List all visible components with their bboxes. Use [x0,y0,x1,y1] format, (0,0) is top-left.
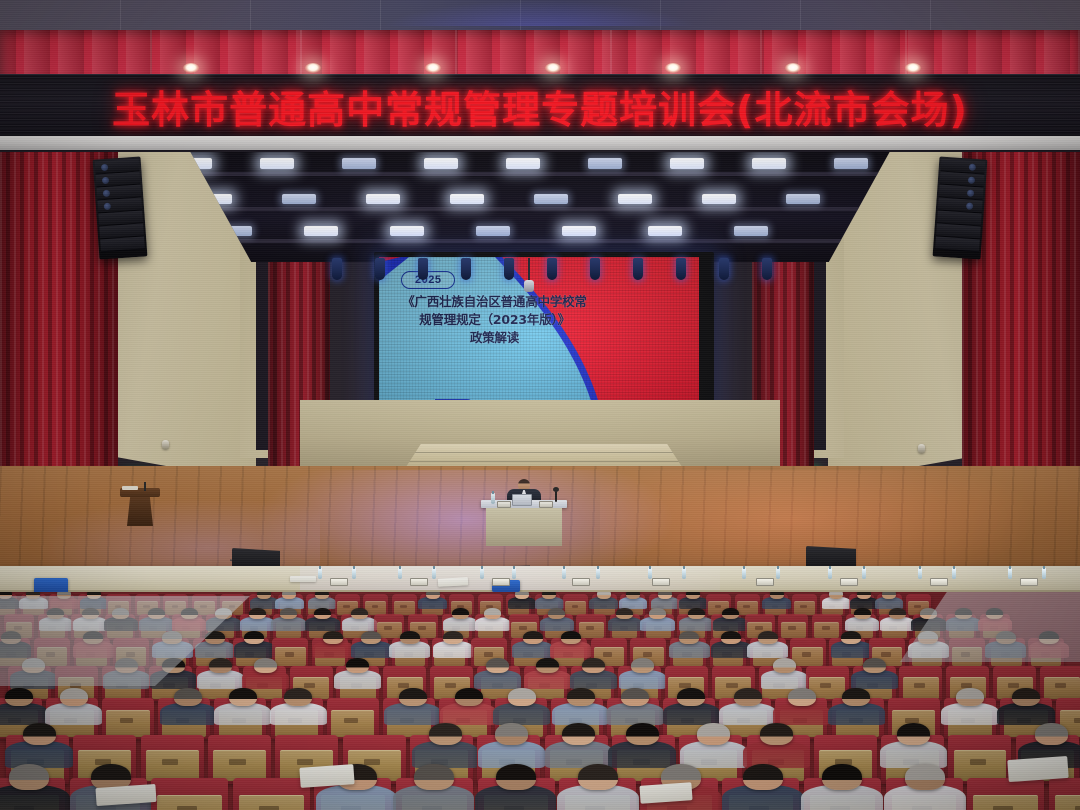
lighting-truss [160,152,920,262]
slide-year-badge: 2025 [401,271,455,289]
audience-member-head [758,631,778,644]
audience-member-head [857,592,871,599]
ceiling-downlight [905,63,921,73]
water-bottle [432,568,436,579]
audience-member-head [829,592,843,599]
audience-member-head [351,608,368,619]
stage-par-light [366,194,400,204]
seat [899,666,942,701]
stage-par-light [260,158,294,169]
water-bottle [512,568,516,579]
audience-member-head [429,723,462,745]
note-paper [639,782,692,804]
water-bottle [1008,568,1012,579]
ceiling-downlight [545,63,561,73]
audience-member-head [9,764,49,790]
audience-member-head [688,608,705,619]
blue-wash-fixture [418,258,428,280]
audience-member-head [60,688,88,706]
audience-member-head [863,658,886,673]
stage-par-light [562,226,596,236]
blue-wash-fixture [547,258,557,280]
seat [327,698,379,739]
name-plate [497,501,511,508]
paper-sheet [438,577,468,587]
audience-member-head [567,688,595,706]
hanging-mic-cable [528,258,530,282]
ceiling-tile-line [930,0,931,32]
audience-member-head [616,608,633,619]
stage-par-light [752,158,786,169]
audience-member-head [257,592,271,599]
seat [812,614,842,640]
seat [576,614,606,640]
audience-member-head [484,608,501,619]
wall-knob-right [918,444,925,453]
stage-par-light [342,158,376,169]
water-bottle [352,568,356,579]
stage-par-light [304,226,338,236]
blue-wash-fixture [633,258,643,280]
blue-wash-fixture [461,258,471,280]
stage-par-light [390,226,424,236]
audience-member-head [905,764,945,790]
blue-wash-fixture [719,258,729,280]
audience-member-head [626,592,640,599]
audience-member-head [679,631,699,644]
auditorium-photo: 玉林市普通高中常规管理专题培训会(北流市会场) [0,0,1080,810]
audience-member-head [361,631,381,644]
audience-member-head [597,592,611,599]
ceiling-downlight [785,63,801,73]
water-bottle [918,568,922,579]
stage-par-light [648,226,682,236]
audience-member-head [548,608,565,619]
name-plate [539,501,553,508]
audience-member-head [542,592,556,599]
name-plate [410,578,428,586]
blue-wash-fixture [762,258,772,280]
audience-member-head [897,723,930,745]
water-bottle [596,568,600,579]
seat [563,594,588,616]
name-plate [572,578,590,586]
name-plate [756,578,774,586]
audience-member-head [414,764,454,790]
audience-member-head [496,764,536,790]
seat [792,594,817,616]
name-plate [840,578,858,586]
audience-member-head [882,592,896,599]
audience-member-head [1035,723,1068,745]
stage-par-light [834,158,868,169]
audience-member-head [734,688,762,706]
audience-member-head [1012,688,1040,706]
seat [102,698,154,739]
laptop [511,494,531,506]
water-bottle [1042,568,1046,579]
water-bottle [952,568,956,579]
audience-member-head [5,688,33,706]
line-array-speaker-left [93,156,148,259]
stage-par-light [450,194,484,204]
audience-member-head [561,631,581,644]
stage-par-light [424,158,458,169]
audience-member-head [841,631,861,644]
audience-member-head [626,723,659,745]
audience-member-head [244,631,264,644]
stage-par-light [506,158,540,169]
audience-member-head [578,764,618,790]
line-array-speaker-right [933,156,988,259]
audience-member-head [399,688,427,706]
audience-member-head [508,688,536,706]
water-bottle [398,568,402,579]
hanging-microphone [524,280,534,292]
name-plate [1020,578,1038,586]
stage-par-light [534,194,568,204]
audience-member-head [721,631,741,644]
audience-member-head [697,723,730,745]
stage-par-light [734,226,768,236]
blue-wash-fixture [590,258,600,280]
water-bottle [742,568,746,579]
note-paper [1007,756,1068,782]
audience-member-head [314,608,331,619]
audience-member-head [495,723,528,745]
side-podium [120,480,160,526]
audience-member-head [889,608,906,619]
seat [1040,666,1080,701]
table-microphone [555,490,557,502]
name-plate [930,578,948,586]
water-bottle [682,568,686,579]
name-plate [492,578,510,586]
audience-member-head [209,658,232,673]
audience-member-head [854,608,871,619]
ceiling-downlight [305,63,321,73]
seat [151,778,228,810]
stage-par-light [476,226,510,236]
slide-title-line-1: 《广西壮族自治区普通高中学校常 [387,293,602,311]
audience-member-head [677,688,705,706]
audience-member-head [515,592,529,599]
audience-member-head [346,658,369,673]
water-bottle [828,568,832,579]
ceiling-tile-line [120,0,121,32]
audience-member-head [23,723,56,745]
seat [778,614,808,640]
slide-title-line-2: 规管理规定（2023年版）》 [387,311,602,329]
water-bottle [480,568,484,579]
audience-member-head [315,592,329,599]
audience-member-head [254,658,277,673]
truss-bar [190,207,890,211]
audience-member-head [956,688,984,706]
ceiling-downlight [183,63,199,73]
audience-member-head [486,658,509,673]
audience-member-head [743,764,783,790]
blue-wash-fixture [375,258,385,280]
ceiling-tile-line [800,0,801,32]
audience-member-head [400,631,420,644]
stage-par-light [588,158,622,169]
water-bottle [776,568,780,579]
note-paper [299,764,354,788]
wall-knob-left [162,440,169,449]
audience-member-head [842,688,870,706]
seat [208,735,271,784]
audience-member-head [770,592,784,599]
audience-member-head [282,592,296,599]
truss-bar [210,239,870,243]
audience-member-head [686,592,700,599]
water-bottle [318,568,322,579]
audience-member-head [621,688,649,706]
water-bottle [562,568,566,579]
audience-member-head [455,688,483,706]
audience-member-head [174,688,202,706]
blue-wash-fixture [332,258,342,280]
speaker-table [481,500,567,546]
ceiling-downlight [665,63,681,73]
audience-member-head [773,658,796,673]
seat [233,778,310,810]
slide-title: 《广西壮族自治区普通高中学校常 规管理规定（2023年版）》 政策解读 [387,293,602,347]
seat [948,735,1011,784]
truss-bar [170,172,910,176]
water-bottle [491,493,495,504]
seat [392,594,417,616]
audience-member-head [658,592,672,599]
audience-member-head [523,631,543,644]
seat [272,638,308,668]
slide-title-line-3: 政策解读 [387,329,602,347]
seat [1049,778,1080,810]
audience-member-head [426,592,440,599]
seat [141,735,204,784]
ceiling-downlight [425,63,441,73]
audience-member-head [536,658,559,673]
audience-member-head [788,688,816,706]
audience-member-head [443,631,463,644]
audience-member-head [760,723,793,745]
audience-member-head [452,608,469,619]
audience-member-head [562,723,595,745]
audience-member-head [631,658,654,673]
paper-sheet [290,576,316,582]
ceiling-glow [380,0,700,26]
blue-wash-fixture [676,258,686,280]
audience-member-head [582,658,605,673]
ceiling-tile-line [250,0,251,32]
audience-member-head [323,631,343,644]
banner-text: 玉林市普通高中常规管理专题培训会(北流市会场) [112,79,968,134]
stage-par-light [670,158,704,169]
stage-par-light [618,194,652,204]
stage-par-light [282,194,316,204]
water-bottle [862,568,866,579]
audience-member-head [284,688,312,706]
seat [967,778,1044,810]
stage-par-light [786,194,820,204]
audience-member-head [249,608,266,619]
audience-member-head [280,608,297,619]
blue-wash-fixture [504,258,514,280]
audience-member-head [229,688,257,706]
stage-par-light [702,194,736,204]
audience-member-head [722,608,739,619]
name-plate [330,578,348,586]
led-banner: 玉林市普通高中常规管理专题培训会(北流市会场) [0,74,1080,138]
audience-member-head [649,608,666,619]
audience-member-head [822,764,862,790]
name-plate [652,578,670,586]
